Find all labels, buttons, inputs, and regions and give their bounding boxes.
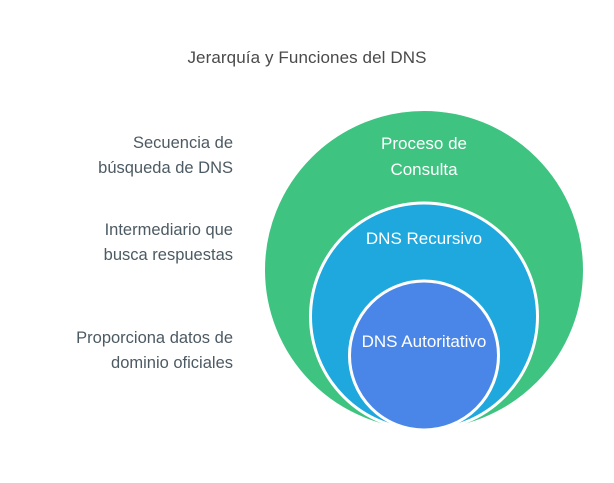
inner-circle-shape (350, 281, 499, 430)
nested-circles-graphic (0, 0, 614, 483)
dns-hierarchy-diagram: Jerarquía y Funciones del DNS Secuencia … (0, 0, 614, 483)
